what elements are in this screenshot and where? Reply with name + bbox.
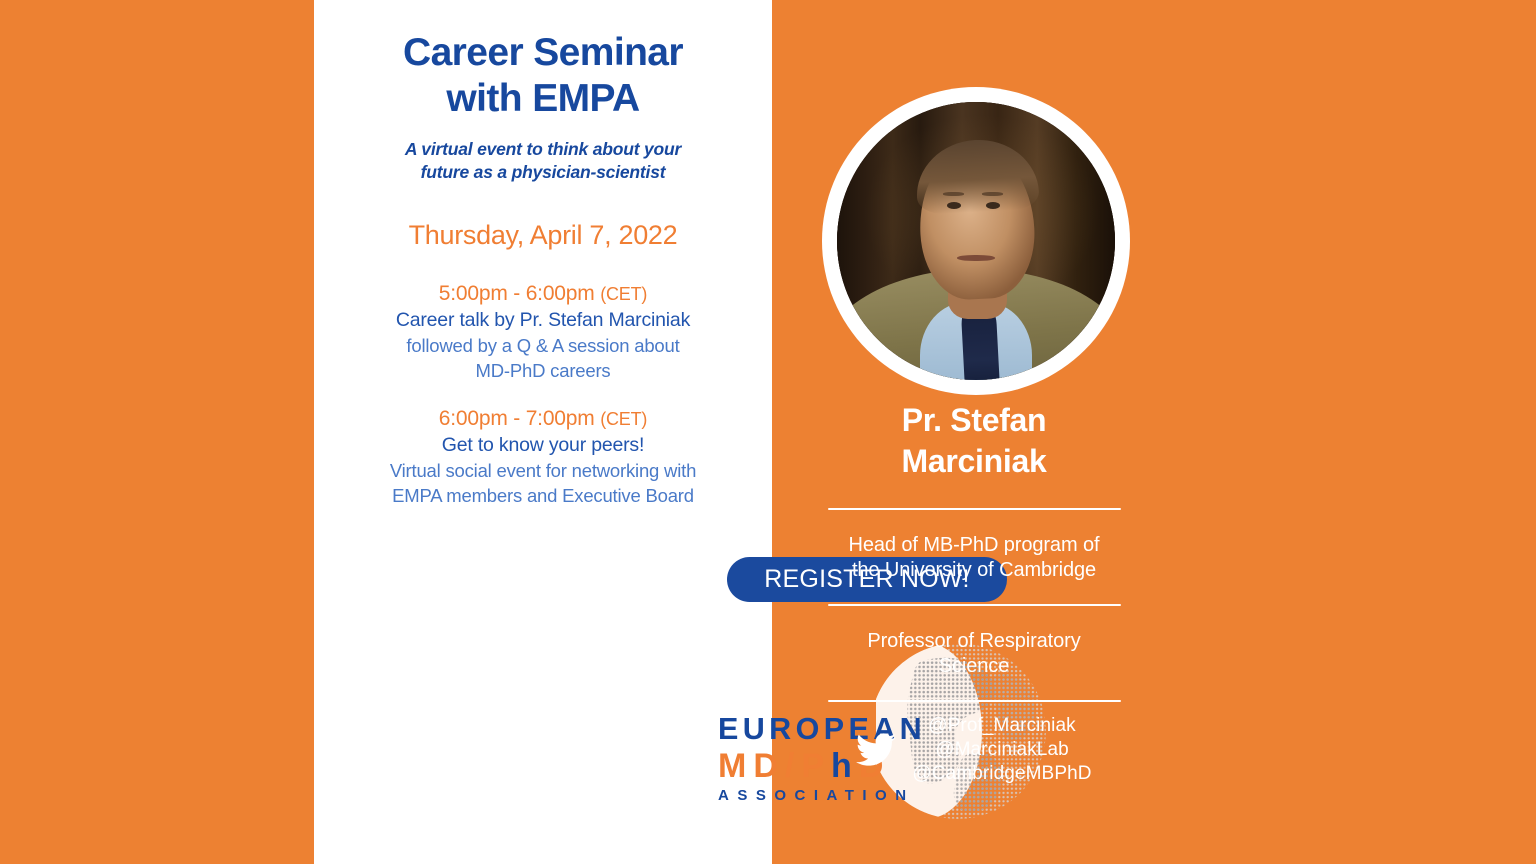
- event-poster: Career Seminar with EMPA A virtual event…: [0, 0, 1536, 864]
- twitter-handle-1[interactable]: @Prof_Marciniak: [912, 714, 1091, 738]
- speaker-credential-2: Professor of Respiratory Science: [772, 629, 1176, 679]
- twitter-handle-3[interactable]: @CambridgeMBPhD: [912, 762, 1091, 786]
- session-block-1: 5:00pm - 6:00pm (CET) Career talk by Pr.…: [314, 281, 772, 383]
- speaker-name-line-2: Marciniak: [772, 441, 1176, 482]
- credential-1-line-1: Head of MB-PhD program of: [772, 533, 1176, 558]
- event-subtitle: A virtual event to think about your futu…: [314, 138, 772, 184]
- subtitle-line-1: A virtual event to think about your: [314, 138, 772, 161]
- session-1-desc-line-1: followed by a Q & A session about: [314, 333, 772, 358]
- session-block-2: 6:00pm - 7:00pm (CET) Get to know your p…: [314, 406, 772, 508]
- session-2-time: 6:00pm - 7:00pm (CET): [314, 406, 772, 432]
- divider-1: [828, 508, 1121, 510]
- portrait-brow-right: [982, 192, 1003, 196]
- divider-3: [828, 700, 1121, 702]
- portrait-brow-left: [943, 192, 964, 196]
- speaker-portrait: [837, 102, 1115, 380]
- twitter-contact-block: @Prof_Marciniak @MarciniakLab @Cambridge…: [772, 714, 1176, 786]
- right-speaker-panel: Pr. Stefan Marciniak Head of MB-PhD prog…: [772, 0, 1536, 864]
- subtitle-line-2: future as a physician-scientist: [314, 161, 772, 184]
- title-line-2: with EMPA: [314, 76, 772, 122]
- session-2-desc-line-2: EMPA members and Executive Board: [314, 483, 772, 508]
- session-1-time: 5:00pm - 6:00pm (CET): [314, 281, 772, 307]
- speaker-name-line-1: Pr. Stefan: [772, 400, 1176, 441]
- session-2-time-range: 6:00pm - 7:00pm: [439, 407, 600, 430]
- twitter-icon: [856, 733, 896, 767]
- session-1-time-range: 5:00pm - 6:00pm: [439, 282, 600, 305]
- page-title: Career Seminar with EMPA: [314, 30, 772, 122]
- event-date: Thursday, April 7, 2022: [314, 218, 772, 252]
- title-line-1: Career Seminar: [314, 30, 772, 76]
- speaker-credential-1: Head of MB-PhD program of the University…: [772, 533, 1176, 583]
- session-1-timezone: (CET): [600, 284, 647, 304]
- divider-2: [828, 604, 1121, 606]
- speaker-photo-frame: [822, 87, 1130, 395]
- session-2-timezone: (CET): [600, 409, 647, 429]
- left-info-panel: Career Seminar with EMPA A virtual event…: [314, 0, 772, 864]
- twitter-handle-2[interactable]: @MarciniakLab: [912, 738, 1091, 762]
- credential-1-line-2: the University of Cambridge: [772, 558, 1176, 583]
- portrait-mouth: [957, 255, 996, 261]
- session-2-heading: Get to know your peers!: [314, 433, 772, 458]
- session-1-desc-line-2: MD-PhD careers: [314, 358, 772, 383]
- credential-2-line-2: Science: [772, 654, 1176, 679]
- twitter-handles: @Prof_Marciniak @MarciniakLab @Cambridge…: [912, 714, 1091, 786]
- session-1-heading: Career talk by Pr. Stefan Marciniak: [314, 308, 772, 333]
- credential-2-line-1: Professor of Respiratory: [772, 629, 1176, 654]
- session-2-desc-line-1: Virtual social event for networking with: [314, 458, 772, 483]
- speaker-name: Pr. Stefan Marciniak: [772, 400, 1176, 482]
